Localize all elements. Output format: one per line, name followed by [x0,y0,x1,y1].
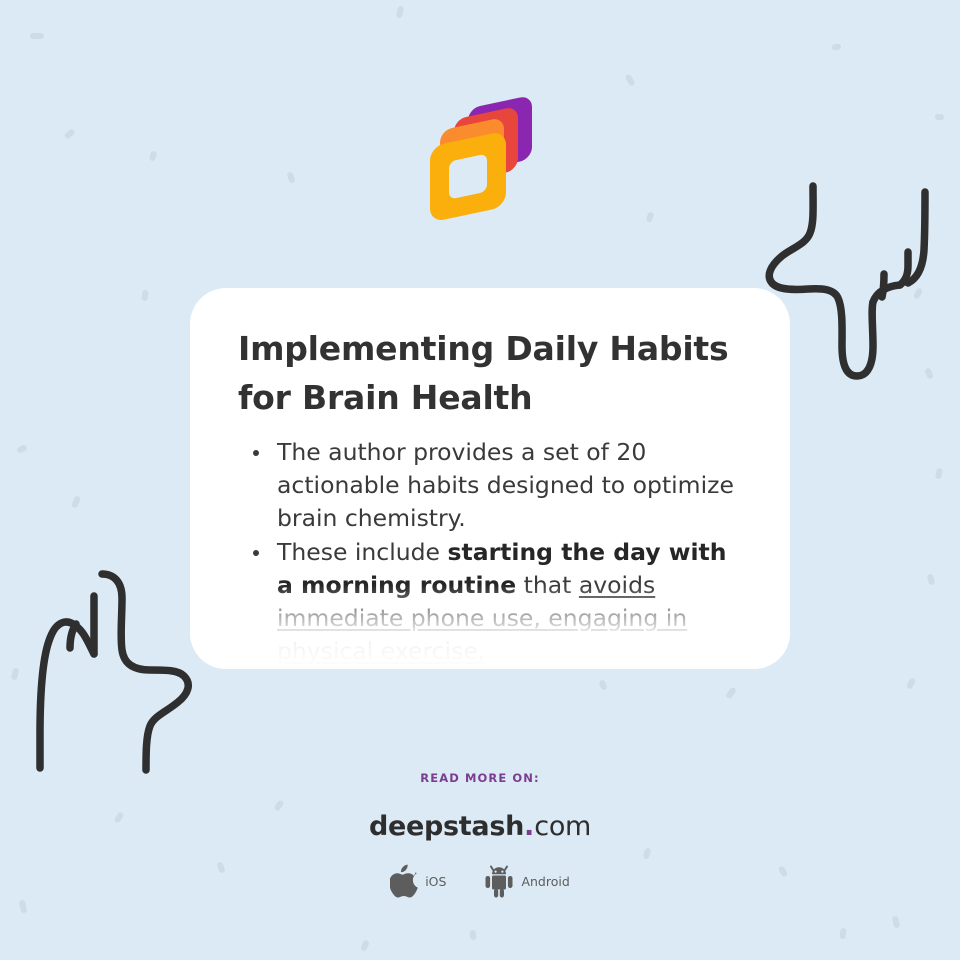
poster-canvas: Implementing Daily Habits for Brain Heal… [0,0,960,960]
ios-store-label: iOS [425,874,446,889]
read-more-label: READ MORE ON: [0,771,960,785]
android-store-label: Android [521,874,569,889]
list-item: The author provides a set of 20 actionab… [238,436,742,535]
list-item: These include starting the day with a mo… [238,536,742,668]
bullet-list: The author provides a set of 20 actionab… [238,436,742,668]
brand-dot: . [524,811,534,842]
brand-tld: com [534,811,591,842]
brand-name: deepstash [369,811,524,842]
deepstash-logo [424,100,536,204]
brand-wordmark: deepstash.com [0,811,960,842]
apple-icon [390,864,418,898]
bullet-2-text-mid: that [516,571,579,599]
ios-store-badge[interactable]: iOS [390,864,446,898]
store-badges: iOS [0,864,960,898]
logo-layer-amber [430,130,506,222]
content-card: Implementing Daily Habits for Brain Heal… [190,288,790,669]
bullet-1-text: The author provides a set of 20 actionab… [277,438,734,532]
android-store-badge[interactable]: Android [484,864,569,898]
page-title: Implementing Daily Habits for Brain Heal… [238,324,742,422]
android-icon [484,864,514,898]
pointing-hand-left-decoration [26,566,204,781]
bullet-2-text-lead: These include [277,538,448,566]
